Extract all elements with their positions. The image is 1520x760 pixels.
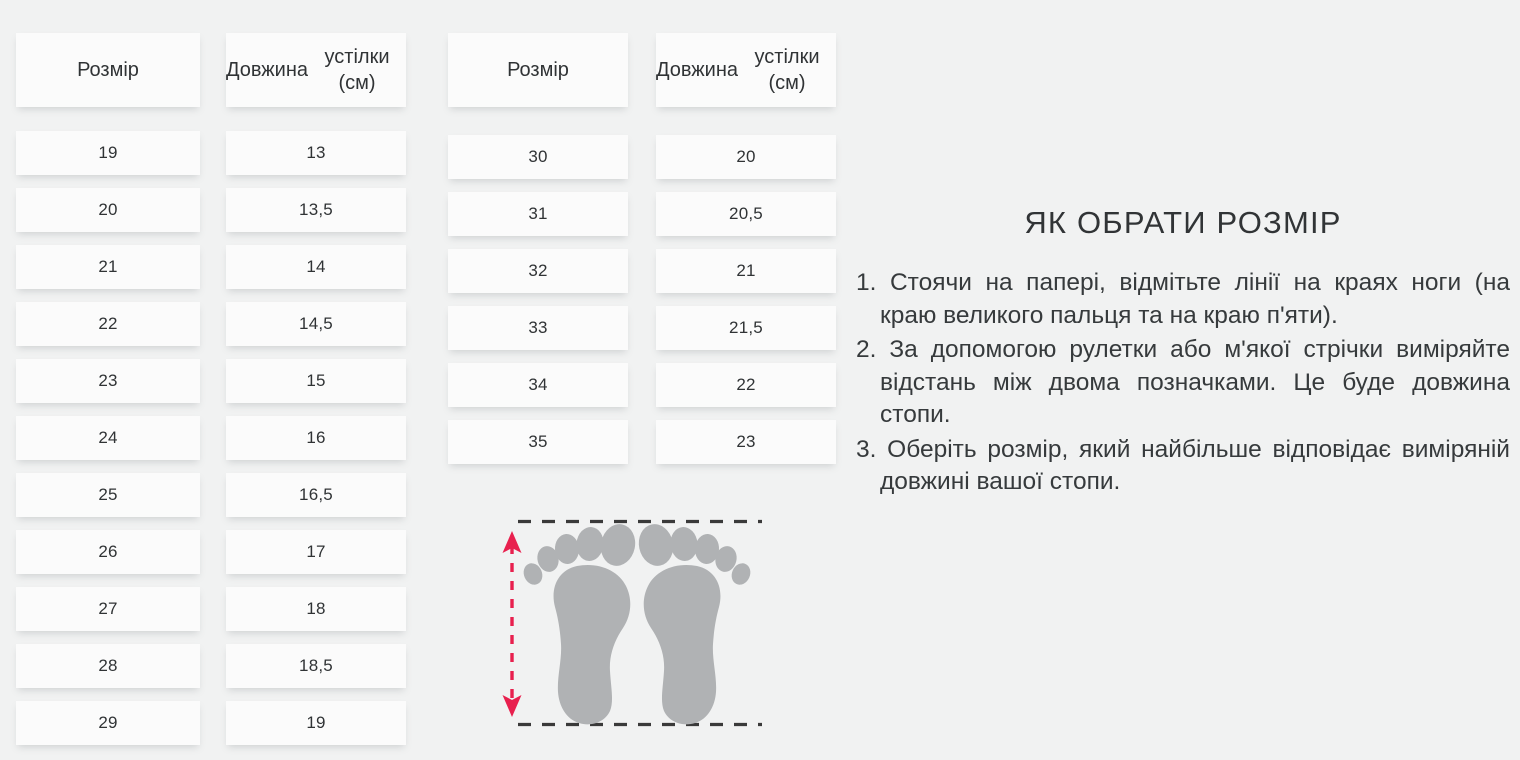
table-row: 21 [656,249,836,293]
table-row: 23 [16,359,200,403]
table-row: 19 [16,131,200,175]
page-title: ЯК ОБРАТИ РОЗМІР [856,205,1510,241]
table-row: 26 [16,530,200,574]
table-row: 22 [656,363,836,407]
table-row: 18 [226,587,406,631]
table-row: 29 [16,701,200,745]
column-header-insole-length-line-1: Довжина [226,57,308,83]
table-row: 20 [656,135,836,179]
how-to-choose-size-panel: ЯК ОБРАТИ РОЗМІР 1. Стоячи на папері, ві… [856,205,1510,501]
table-row: 20,5 [656,192,836,236]
column-header-insole-length: Довжина устілки (см) [226,33,406,107]
instruction-step-3: 3. Оберіть розмір, який найбільше відпов… [856,434,1510,499]
table-row: 17 [226,530,406,574]
table-row: 16 [226,416,406,460]
column-header-size: Розмір [16,33,200,107]
table-row: 25 [16,473,200,517]
table-row: 21,5 [656,306,836,350]
size-column: Розмір 19 20 21 22 23 24 25 26 27 28 29 [16,33,200,758]
instruction-step-3-text: 3. Оберіть розмір, який найбільше відпов… [856,434,1510,499]
size-column: Розмір 30 31 32 33 34 35 [448,33,628,477]
right-footprint-icon [635,521,754,724]
table-row: 23 [656,420,836,464]
instruction-step-1: 1. Стоячи на папері, відмітьте лінії на … [856,267,1510,332]
kids-size-table: Розмір 30 31 32 33 34 35 Довжина устілки… [448,33,836,477]
column-header-insole-length: Довжина устілки (см) [656,33,836,107]
table-row: 35 [448,420,628,464]
table-row: 13 [226,131,406,175]
table-row: 18,5 [226,644,406,688]
table-row: 28 [16,644,200,688]
table-row: 22 [16,302,200,346]
table-row: 16,5 [226,473,406,517]
table-row: 14 [226,245,406,289]
column-header-size-line-1: Розмір [507,57,569,83]
table-row: 34 [448,363,628,407]
table-row: 13,5 [226,188,406,232]
table-row: 20 [16,188,200,232]
insole-length-column: Довжина устілки (см) 13 13,5 14 14,5 15 … [226,33,406,758]
measurement-arrow-icon [503,531,522,717]
table-row: 19 [226,701,406,745]
foot-measurement-diagram [492,508,782,748]
table-row: 14,5 [226,302,406,346]
insole-length-column: Довжина устілки (см) 20 20,5 21 21,5 22 … [656,33,836,477]
table-row: 30 [448,135,628,179]
column-header-insole-length-line-2: устілки (см) [738,44,836,96]
instruction-step-2-text: 2. За допомогою рулетки або м'якої стріч… [856,334,1510,432]
table-row: 15 [226,359,406,403]
table-row: 31 [448,192,628,236]
table-row: 24 [16,416,200,460]
toddler-size-table: Розмір 19 20 21 22 23 24 25 26 27 28 29 … [16,33,406,758]
instruction-step-1-text: 1. Стоячи на папері, відмітьте лінії на … [856,267,1510,332]
column-header-size: Розмір [448,33,628,107]
size-guide-page: Розмір 19 20 21 22 23 24 25 26 27 28 29 … [0,0,1520,760]
table-row: 27 [16,587,200,631]
column-header-size-line-1: Розмір [77,57,139,83]
column-header-insole-length-line-2: устілки (см) [308,44,406,96]
table-row: 21 [16,245,200,289]
left-footprint-icon [520,521,639,724]
table-row: 33 [448,306,628,350]
instruction-step-2: 2. За допомогою рулетки або м'якої стріч… [856,334,1510,432]
column-header-insole-length-line-1: Довжина [656,57,738,83]
table-row: 32 [448,249,628,293]
